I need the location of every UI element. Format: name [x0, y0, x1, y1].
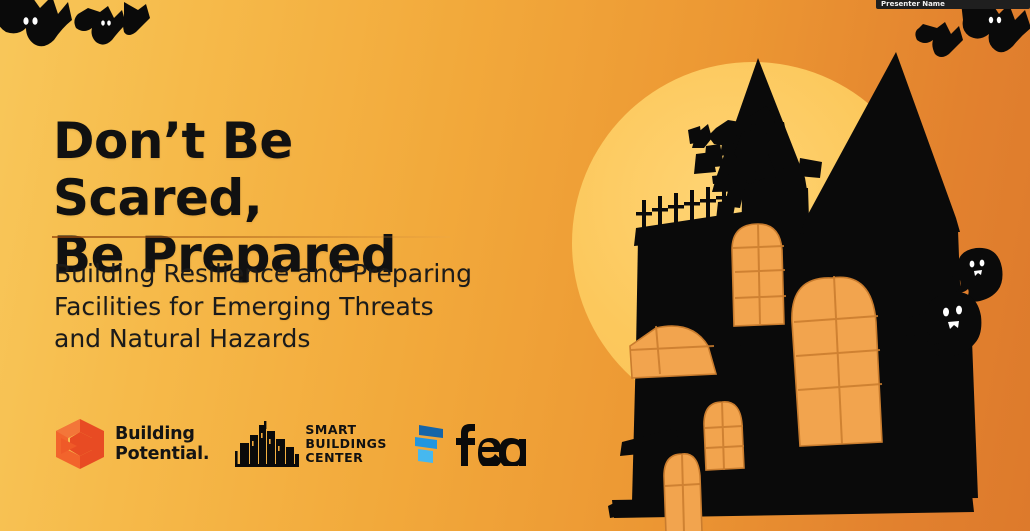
- subtitle-line-2: Facilities for Emerging Threats: [54, 291, 494, 324]
- presentation-slide: Don’t Be Scared, Be Prepared Building Re…: [0, 0, 1030, 531]
- logo-smart-buildings-center: SMART BUILDINGS CENTER: [235, 421, 387, 467]
- ghost-icon: [924, 244, 1016, 356]
- cube-arrow-icon: [52, 416, 108, 472]
- fea-flag-icon: [413, 423, 445, 465]
- bp-line-1: Building: [115, 424, 209, 444]
- subtitle-line-1: Building Resilience and Preparing: [54, 258, 494, 291]
- bat-icon: [905, 2, 1030, 58]
- subtitle: Building Resilience and Preparing Facili…: [54, 258, 494, 356]
- presenter-name-bar: Presenter Name: [876, 0, 1030, 9]
- logo-fea-wordmark: [451, 422, 535, 466]
- presenter-name-label: Presenter Name: [876, 0, 1030, 9]
- logo-strip: Building Potential.: [52, 411, 535, 477]
- title-divider: [52, 236, 450, 238]
- title-line-1: Don’t Be Scared,: [53, 113, 513, 227]
- subtitle-line-3: and Natural Hazards: [54, 323, 494, 356]
- logo-building-potential-text: Building Potential.: [115, 424, 209, 465]
- city-skyline-icon: [235, 421, 299, 467]
- logo-smart-buildings-center-text: SMART BUILDINGS CENTER: [305, 423, 387, 465]
- sbc-line-3: CENTER: [305, 451, 387, 465]
- sbc-line-1: SMART: [305, 423, 387, 437]
- bp-line-2: Potential.: [115, 444, 209, 464]
- logo-building-potential: Building Potential.: [52, 416, 209, 472]
- bat-icon: [0, 0, 186, 70]
- logo-fea: [413, 422, 535, 466]
- sbc-line-2: BUILDINGS: [305, 437, 387, 451]
